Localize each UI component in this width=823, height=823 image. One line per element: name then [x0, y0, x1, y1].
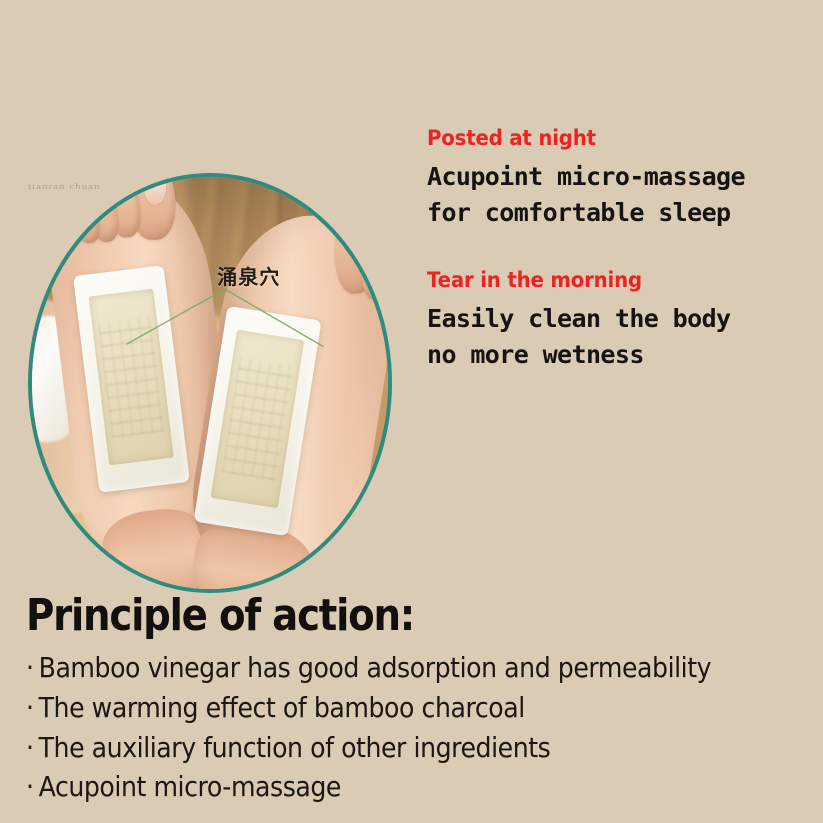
principle-of-action-title: Principle of action: [26, 594, 721, 638]
benefit-block-morning: Tear in the morning Easily clean the bod… [427, 268, 811, 374]
benefit-line: no more wetness [427, 337, 811, 373]
toenail [144, 173, 167, 205]
bullet-marker-icon: · [26, 728, 39, 768]
benefits-text-column: Posted at night Acupoint micro-massage f… [427, 126, 811, 373]
list-item-label: Bamboo vinegar has good adsorption and p… [39, 651, 712, 684]
list-item: ·Acupoint micro-massage [26, 767, 737, 807]
benefit-line: for comfortable sleep [427, 195, 811, 231]
acupoint-label: 涌泉穴 [217, 261, 280, 290]
benefit-kicker-morning: Tear in the morning [427, 268, 788, 292]
list-item: ·Bamboo vinegar has good adsorption and … [26, 648, 737, 688]
infographic-page: tianran chuan [0, 0, 823, 823]
patch-pad [211, 329, 305, 508]
list-item-label: The auxiliary function of other ingredie… [39, 731, 551, 764]
bullet-marker-icon: · [26, 648, 39, 688]
benefit-line: Acupoint micro-massage [427, 159, 811, 195]
list-item: ·The warming effect of bamboo charcoal [26, 688, 737, 728]
patch-pad [89, 288, 175, 465]
bullet-marker-icon: · [26, 767, 39, 807]
benefit-kicker-night: Posted at night [427, 126, 788, 150]
principle-bullet-list: ·Bamboo vinegar has good adsorption and … [26, 648, 816, 807]
photo-inner: 涌泉穴 [28, 173, 392, 593]
toe [388, 263, 392, 323]
principle-of-action-section: Principle of action: ·Bamboo vinegar has… [26, 594, 816, 807]
list-item: ·The auxiliary function of other ingredi… [26, 728, 737, 768]
bullet-marker-icon: · [26, 688, 39, 728]
benefit-line: Easily clean the body [427, 301, 811, 337]
list-item-label: Acupoint micro-massage [39, 770, 341, 803]
benefit-block-night: Posted at night Acupoint micro-massage f… [427, 126, 811, 232]
toenail [343, 215, 364, 255]
product-photo-oval: 涌泉穴 [28, 173, 392, 593]
list-item-label: The warming effect of bamboo charcoal [39, 691, 525, 724]
